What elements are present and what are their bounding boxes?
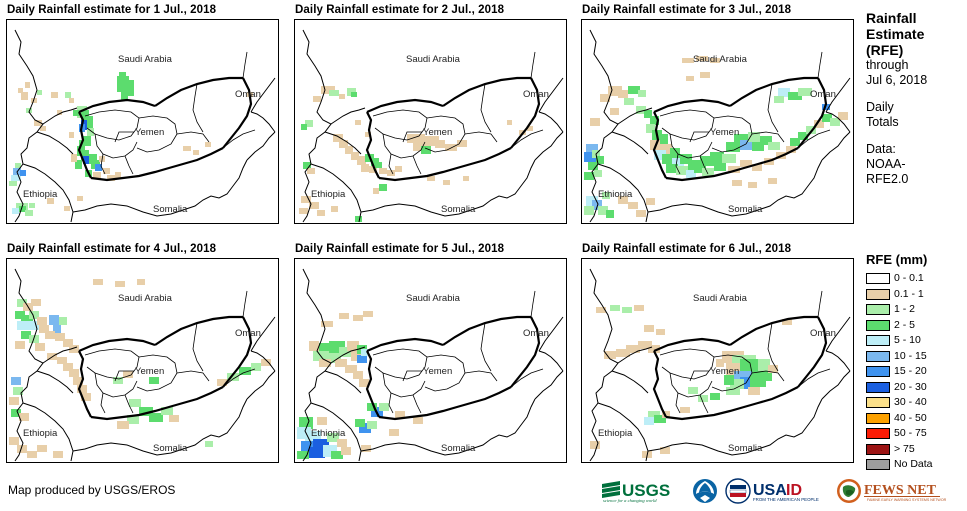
panel-title-3: Daily Rainfall estimate for 3 Jul., 2018 xyxy=(581,4,854,17)
legend-label: 10 - 15 xyxy=(894,351,927,362)
panel-title-1: Daily Rainfall estimate for 1 Jul., 2018 xyxy=(6,4,279,17)
label-saudi-arabia: Saudi Arabia xyxy=(118,54,173,65)
panel-5: Daily Rainfall estimate for 5 Jul., 2018 xyxy=(294,243,567,463)
label-saudi-arabia: Saudi Arabia xyxy=(693,293,748,304)
label-oman: Oman xyxy=(810,328,836,339)
label-somalia: Somalia xyxy=(728,443,763,454)
panel-title-6: Daily Rainfall estimate for 6 Jul., 2018 xyxy=(581,243,854,256)
map-svg-6: Saudi Arabia Oman Yemen Ethiopia Somalia xyxy=(582,259,853,462)
label-ethiopia: Ethiopia xyxy=(311,428,346,439)
legend-item[interactable]: 0 - 0.1 xyxy=(866,271,967,287)
panel-3: Daily Rainfall estimate for 3 Jul., 2018 xyxy=(581,4,854,224)
label-saudi-arabia: Saudi Arabia xyxy=(693,54,748,65)
label-saudi-arabia: Saudi Arabia xyxy=(406,54,461,65)
svg-text:FAMINE EARLY WARNING SYSTEMS N: FAMINE EARLY WARNING SYSTEMS NETWORK xyxy=(867,498,946,502)
label-ethiopia: Ethiopia xyxy=(598,189,633,200)
data-label: Data: xyxy=(866,142,966,157)
svg-text:science for a changing world: science for a changing world xyxy=(603,498,657,503)
admin-boundaries-6 xyxy=(660,291,830,413)
country-borders-1 xyxy=(79,78,251,180)
legend-item[interactable]: > 75 xyxy=(866,442,967,458)
spacer-2 xyxy=(866,130,966,142)
legend-item[interactable]: 10 - 15 xyxy=(866,349,967,365)
legend: RFE (mm) 0 - 0.10.1 - 11 - 22 - 55 - 101… xyxy=(866,252,967,473)
legend-label: No Data xyxy=(894,459,933,470)
label-yemen: Yemen xyxy=(710,366,739,377)
legend-swatch xyxy=(866,413,890,424)
label-oman: Oman xyxy=(523,89,549,100)
legend-item[interactable]: 15 - 20 xyxy=(866,364,967,380)
label-somalia: Somalia xyxy=(153,204,188,215)
label-somalia: Somalia xyxy=(728,204,763,215)
legend-item[interactable]: 40 - 50 xyxy=(866,411,967,427)
label-yemen: Yemen xyxy=(423,366,452,377)
product-header: Rainfall Estimate (RFE) through Jul 6, 2… xyxy=(866,10,966,187)
legend-item[interactable]: 20 - 30 xyxy=(866,380,967,396)
label-saudi-arabia: Saudi Arabia xyxy=(118,293,173,304)
country-borders-4 xyxy=(79,317,251,419)
legend-swatch xyxy=(866,304,890,315)
label-oman: Oman xyxy=(235,328,261,339)
legend-label: 20 - 30 xyxy=(894,382,927,393)
legend-rows: 0 - 0.10.1 - 11 - 22 - 55 - 1010 - 1515 … xyxy=(866,271,967,473)
label-oman: Oman xyxy=(523,328,549,339)
legend-label: 40 - 50 xyxy=(894,413,927,424)
legend-swatch xyxy=(866,320,890,331)
legend-title: RFE (mm) xyxy=(866,252,967,267)
product-title-line2: Estimate xyxy=(866,26,966,42)
legend-label: 2 - 5 xyxy=(894,320,915,331)
panel-6: Daily Rainfall estimate for 6 Jul., 2018 xyxy=(581,243,854,463)
map-frame-1[interactable]: Saudi Arabia Oman Yemen Ethiopia Somalia xyxy=(6,19,279,224)
legend-label: 0 - 0.1 xyxy=(894,273,924,284)
admin-boundaries-4 xyxy=(85,291,255,413)
label-oman: Oman xyxy=(235,89,261,100)
logo-strip: USGS science for a changing world USA ID… xyxy=(600,478,946,504)
admin-boundaries-2 xyxy=(373,52,543,174)
legend-label: 1 - 2 xyxy=(894,304,915,315)
legend-swatch xyxy=(866,444,890,455)
data-source-line1: NOAA- xyxy=(866,157,966,172)
label-yemen: Yemen xyxy=(135,366,164,377)
map-svg-4: Saudi Arabia Oman Yemen Ethiopia Somalia xyxy=(7,259,278,462)
svg-text:FROM THE AMERICAN PEOPLE: FROM THE AMERICAN PEOPLE xyxy=(753,497,819,502)
usgs-logo[interactable]: USGS science for a changing world xyxy=(600,478,686,504)
legend-label: 50 - 75 xyxy=(894,428,927,439)
panel-2: Daily Rainfall estimate for 2 Jul., 2018 xyxy=(294,4,567,224)
legend-item[interactable]: 0.1 - 1 xyxy=(866,287,967,303)
map-frame-3[interactable]: Saudi Arabia Oman Yemen Ethiopia Somalia xyxy=(581,19,854,224)
country-borders-5 xyxy=(367,317,539,419)
legend-swatch xyxy=(866,289,890,300)
totals-line2: Totals xyxy=(866,115,966,130)
map-frame-6[interactable]: Saudi Arabia Oman Yemen Ethiopia Somalia xyxy=(581,258,854,463)
panel-title-4: Daily Rainfall estimate for 4 Jul., 2018 xyxy=(6,243,279,256)
panel-1: Daily Rainfall estimate for 1 Jul., 2018 xyxy=(6,4,279,224)
country-borders-2 xyxy=(367,78,539,180)
legend-swatch xyxy=(866,366,890,377)
legend-swatch xyxy=(866,335,890,346)
legend-label: 30 - 40 xyxy=(894,397,927,408)
legend-label: 0.1 - 1 xyxy=(894,289,924,300)
fewsnet-logo[interactable]: FEWS NET FAMINE EARLY WARNING SYSTEMS NE… xyxy=(836,478,946,504)
legend-item[interactable]: 50 - 75 xyxy=(866,426,967,442)
label-ethiopia: Ethiopia xyxy=(23,189,58,200)
legend-swatch xyxy=(866,382,890,393)
legend-label: > 75 xyxy=(894,444,915,455)
legend-item[interactable]: No Data xyxy=(866,457,967,473)
totals-line1: Daily xyxy=(866,100,966,115)
legend-swatch xyxy=(866,459,890,470)
label-somalia: Somalia xyxy=(153,443,188,454)
legend-swatch xyxy=(866,397,890,408)
legend-swatch xyxy=(866,351,890,362)
map-svg-3: Saudi Arabia Oman Yemen Ethiopia Somalia xyxy=(582,20,853,223)
label-somalia: Somalia xyxy=(441,443,476,454)
legend-swatch xyxy=(866,428,890,439)
spacer-1 xyxy=(866,88,966,100)
map-frame-2[interactable]: Saudi Arabia Oman Yemen Ethiopia Somalia xyxy=(294,19,567,224)
panel-title-2: Daily Rainfall estimate for 2 Jul., 2018 xyxy=(294,4,567,17)
through-date: Jul 6, 2018 xyxy=(866,73,966,88)
noaa-logo[interactable] xyxy=(692,478,718,504)
label-yemen: Yemen xyxy=(710,127,739,138)
label-saudi-arabia: Saudi Arabia xyxy=(406,293,461,304)
map-svg-5: Saudi Arabia Oman Yemen Ethiopia Somalia xyxy=(295,259,566,462)
label-somalia: Somalia xyxy=(441,204,476,215)
label-yemen: Yemen xyxy=(423,127,452,138)
label-ethiopia: Ethiopia xyxy=(23,428,58,439)
legend-label: 15 - 20 xyxy=(894,366,927,377)
map-frame-5[interactable]: Saudi Arabia Oman Yemen Ethiopia Somalia xyxy=(294,258,567,463)
label-ethiopia: Ethiopia xyxy=(598,428,633,439)
legend-swatch xyxy=(866,273,890,284)
rfe-map-sheet: Daily Rainfall estimate for 1 Jul., 2018 xyxy=(0,0,967,511)
admin-boundaries-5 xyxy=(373,291,543,413)
panel-title-5: Daily Rainfall estimate for 5 Jul., 2018 xyxy=(294,243,567,256)
map-credit: Map produced by USGS/EROS xyxy=(8,483,175,497)
label-oman: Oman xyxy=(810,89,836,100)
usaid-logo[interactable]: USA ID FROM THE AMERICAN PEOPLE xyxy=(724,478,830,504)
legend-label: 5 - 10 xyxy=(894,335,921,346)
admin-boundaries-1 xyxy=(85,52,255,174)
map-frame-4[interactable]: Saudi Arabia Oman Yemen Ethiopia Somalia xyxy=(6,258,279,463)
map-svg-1: Saudi Arabia Oman Yemen Ethiopia Somalia xyxy=(7,20,278,223)
legend-item[interactable]: 1 - 2 xyxy=(866,302,967,318)
through-label: through xyxy=(866,58,966,73)
legend-item[interactable]: 5 - 10 xyxy=(866,333,967,349)
label-yemen: Yemen xyxy=(135,127,164,138)
data-source-line2: RFE2.0 xyxy=(866,172,966,187)
product-title-line1: Rainfall xyxy=(866,10,966,26)
panel-4: Daily Rainfall estimate for 4 Jul., 2018 xyxy=(6,243,279,463)
legend-item[interactable]: 30 - 40 xyxy=(866,395,967,411)
map-svg-2: Saudi Arabia Oman Yemen Ethiopia Somalia xyxy=(295,20,566,223)
svg-text:FEWS NET: FEWS NET xyxy=(864,483,937,498)
label-ethiopia: Ethiopia xyxy=(311,189,346,200)
product-title-line3: (RFE) xyxy=(866,42,966,58)
legend-item[interactable]: 2 - 5 xyxy=(866,318,967,334)
